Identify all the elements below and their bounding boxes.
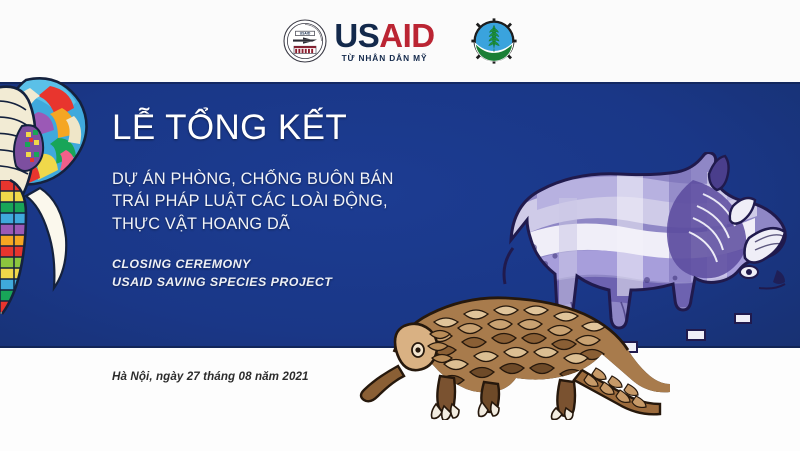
svg-text:USAID: USAID bbox=[300, 32, 311, 36]
pangolin-mosaic-illustration bbox=[344, 278, 674, 420]
usaid-wordmark: USAID TỪ NHÂN DÂN MỸ bbox=[334, 19, 434, 62]
usaid-logo: USAID bbox=[283, 19, 434, 63]
banner-subtitle: DỰ ÁN PHÒNG, CHỐNG BUÔN BÁN TRÁI PHÁP LU… bbox=[112, 168, 442, 235]
banner-stage: USAID bbox=[0, 0, 800, 451]
subtitle-line-2: TRÁI PHÁP LUẬT CÁC LOÀI ĐỘNG, bbox=[112, 190, 442, 212]
elephant-mosaic-illustration bbox=[0, 68, 100, 316]
usaid-seal-icon: USAID bbox=[283, 19, 327, 63]
subtitle-line-3: THỰC VẬT HOANG DÃ bbox=[112, 213, 442, 235]
banner-text-block: LỄ TỔNG KẾT DỰ ÁN PHÒNG, CHỐNG BUÔN BÁN … bbox=[112, 110, 442, 291]
logo-bar: USAID bbox=[0, 0, 800, 82]
usaid-tagline: TỪ NHÂN DÂN MỸ bbox=[342, 54, 428, 62]
event-date: Hà Nội, ngày 27 tháng 08 năm 2021 bbox=[112, 370, 309, 383]
usaid-word-aid: AID bbox=[379, 17, 434, 54]
panel-top-divider bbox=[0, 82, 800, 84]
english-line-1: CLOSING CEREMONY bbox=[112, 256, 442, 274]
subtitle-line-1: DỰ ÁN PHÒNG, CHỐNG BUÔN BÁN bbox=[112, 168, 442, 190]
page-title: LỄ TỔNG KẾT bbox=[112, 110, 442, 147]
usaid-word-us: US bbox=[334, 17, 379, 54]
mard-vietnam-emblem-icon bbox=[471, 18, 517, 64]
